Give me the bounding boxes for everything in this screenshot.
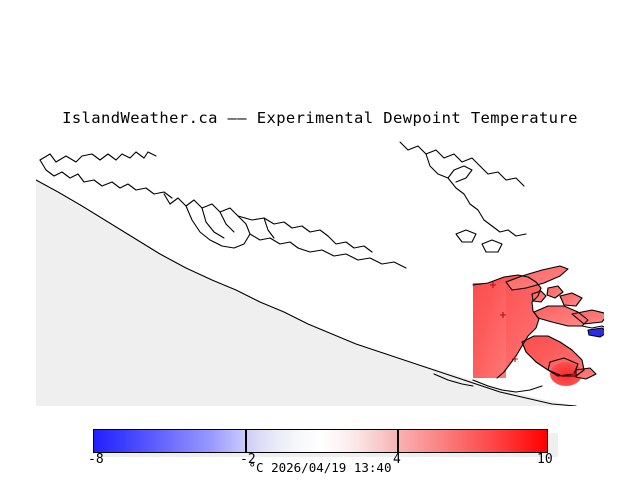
colorbar-tick-mid-low — [245, 429, 247, 453]
dewpoint-temperature-map-figure: IslandWeather.ca —— Experimental Dewpoin… — [0, 0, 640, 480]
colorbar-tick-mid-high — [397, 429, 399, 453]
map-plot-area[interactable] — [36, 136, 604, 406]
colorbar-units-timestamp: °C 2026/04/19 13:40 — [0, 460, 640, 475]
colorbar-label-mid-low: -2 — [240, 452, 256, 467]
page-title: IslandWeather.ca —— Experimental Dewpoin… — [0, 109, 640, 127]
colorbar-shadow — [97, 433, 558, 457]
map-canvas[interactable] — [36, 136, 604, 406]
colorbar-label-max: 10 — [537, 452, 553, 467]
colorbar-label-min: -8 — [88, 452, 104, 467]
colorbar-label-mid-high: 4 — [393, 452, 401, 467]
temperature-colorbar[interactable] — [93, 429, 548, 453]
